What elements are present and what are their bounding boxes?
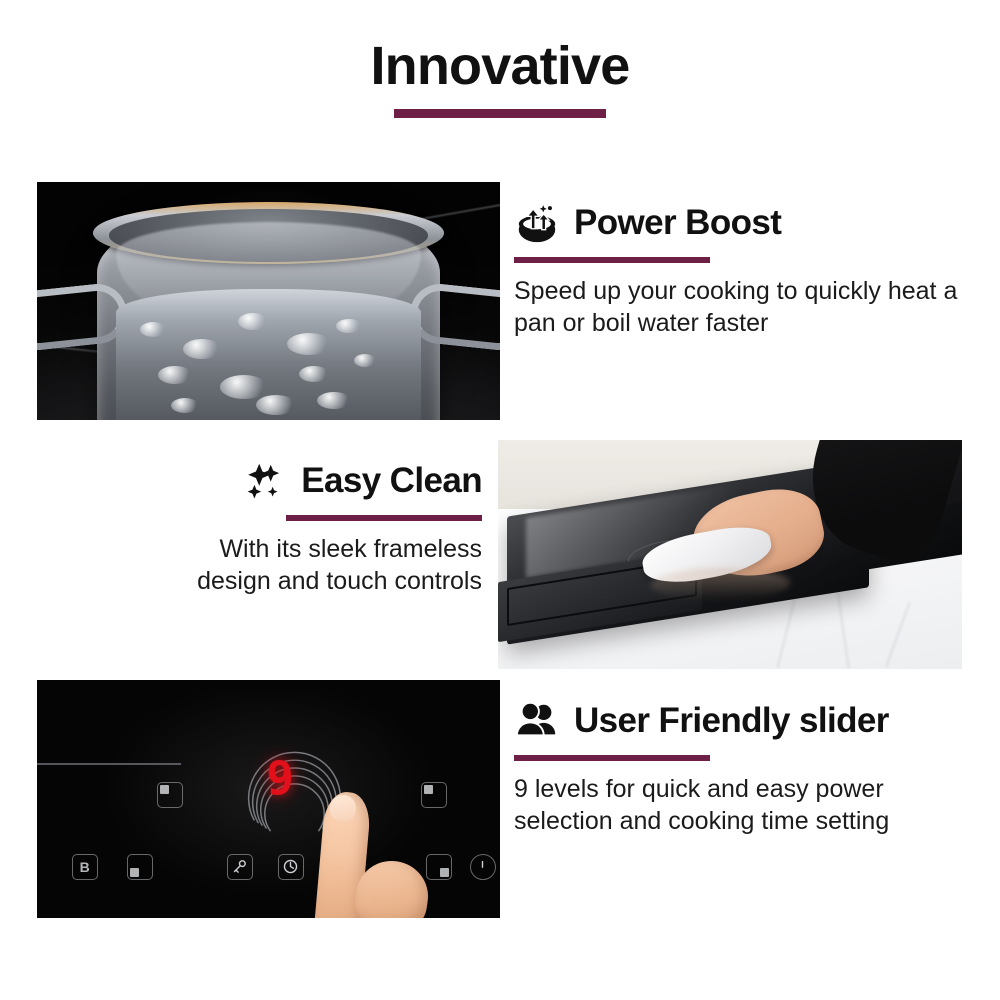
feature-row-power-boost: Power Boost Speed up your cooking to qui… bbox=[0, 172, 1000, 420]
feature-body-easy-clean: With its sleek frameless design and touc… bbox=[150, 534, 482, 597]
feature-text-power-boost: Power Boost Speed up your cooking to qui… bbox=[514, 200, 966, 364]
pot-boost-icon bbox=[514, 200, 560, 246]
people-icon bbox=[514, 698, 560, 744]
button-bridge[interactable]: B bbox=[72, 854, 98, 880]
feature-text-user-friendly-slider: User Friendly slider 9 levels for quick … bbox=[514, 698, 966, 862]
sparkles-icon bbox=[241, 458, 287, 504]
feature-underline-rule bbox=[286, 515, 482, 521]
image-control-panel: 9 B bbox=[37, 680, 500, 918]
feature-row-user-friendly-slider: 9 B bbox=[0, 670, 1000, 918]
button-zone-bottom-right[interactable] bbox=[426, 854, 452, 880]
button-zone-bottom-left[interactable] bbox=[127, 854, 153, 880]
power-icon bbox=[471, 855, 495, 879]
image-wiping-cooktop bbox=[498, 440, 962, 669]
bridge-label: B bbox=[73, 855, 97, 879]
feature-body-user-friendly-slider: 9 levels for quick and easy power select… bbox=[514, 774, 966, 837]
button-zone-top-left[interactable] bbox=[157, 782, 183, 808]
clock-icon bbox=[279, 855, 303, 879]
boiling-water bbox=[116, 289, 422, 420]
key-icon bbox=[228, 855, 252, 879]
power-level-display: 9 bbox=[266, 751, 294, 805]
page-header: Innovative bbox=[0, 0, 1000, 150]
feature-row-easy-clean: Easy Clean With its sleek frameless desi… bbox=[0, 430, 1000, 678]
button-child-lock[interactable] bbox=[227, 854, 253, 880]
feature-title-easy-clean: Easy Clean bbox=[301, 462, 482, 501]
button-timer[interactable] bbox=[278, 854, 304, 880]
feature-title-user-friendly-slider: User Friendly slider bbox=[574, 702, 889, 741]
button-power[interactable] bbox=[470, 854, 496, 880]
button-zone-top-right[interactable] bbox=[421, 782, 447, 808]
image-boiling-pot bbox=[37, 182, 500, 420]
feature-body-power-boost: Speed up your cooking to quickly heat a … bbox=[514, 276, 966, 339]
panel-hairline bbox=[37, 763, 181, 765]
title-underline-rule bbox=[394, 109, 606, 118]
feature-title-power-boost: Power Boost bbox=[574, 204, 781, 243]
feature-underline-rule bbox=[514, 755, 710, 761]
feature-text-easy-clean: Easy Clean With its sleek frameless desi… bbox=[150, 458, 482, 622]
feature-underline-rule bbox=[514, 257, 710, 263]
page-title: Innovative bbox=[0, 0, 1000, 95]
